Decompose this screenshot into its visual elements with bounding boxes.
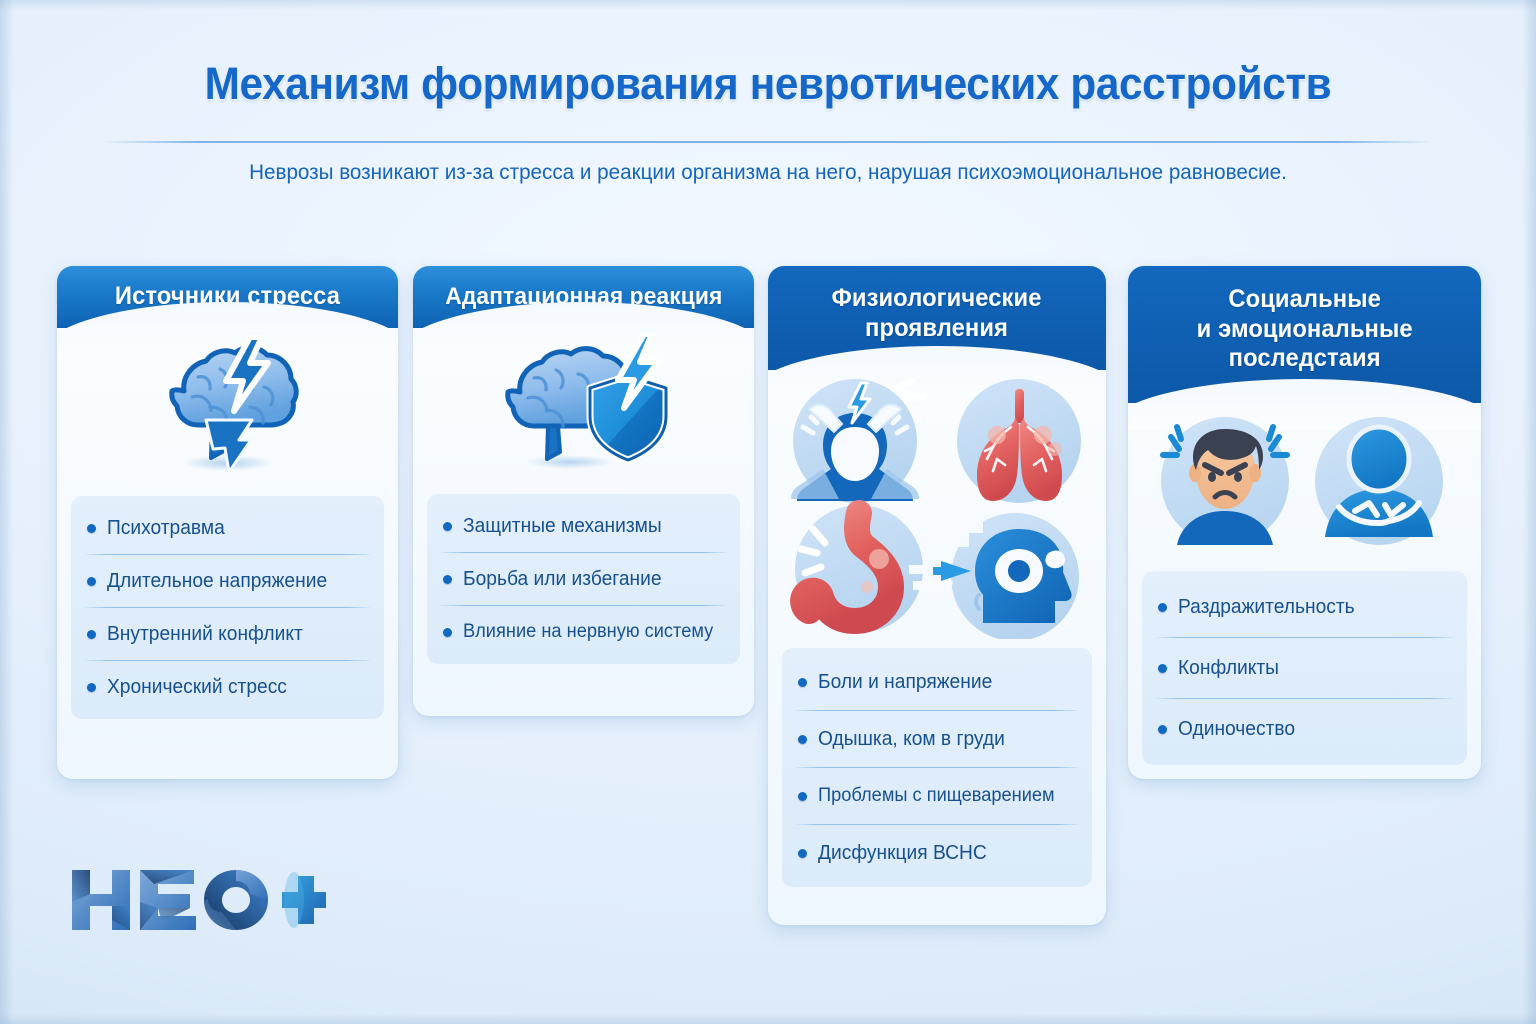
infographic-canvas: Механизм формирования невротических расс…: [0, 0, 1536, 1024]
list-item-label: Одышка, ком в груди: [818, 728, 1005, 751]
list-item-label: Внутренний конфликт: [107, 623, 303, 646]
list-item[interactable]: Одиночество: [1142, 699, 1467, 759]
bullet-icon: [443, 522, 452, 531]
physiology-icon-group: [781, 373, 1093, 639]
icon-area: [768, 372, 1106, 640]
list-item-label: Проблемы с пищеварением: [818, 785, 1055, 807]
bullet-icon: [798, 792, 807, 801]
list-item[interactable]: Одышка, ком в груди: [782, 711, 1092, 767]
list-item[interactable]: Раздражительность: [1142, 577, 1467, 637]
list-panel: Защитные механизмы Борьба или избегание …: [427, 494, 740, 664]
card-body: Боли и напряжение Одышка, ком в груди Пр…: [768, 372, 1106, 887]
bullet-icon: [798, 849, 807, 858]
bullet-icon: [87, 683, 96, 692]
list-item[interactable]: Дисфункция ВСНС: [782, 825, 1092, 881]
list-item-label: Боли и напряжение: [818, 671, 992, 694]
stomach-icon: [795, 505, 923, 633]
head-arrows-icon: [909, 503, 1079, 639]
card-physiological-symptoms[interactable]: Физиологические проявления: [768, 266, 1106, 925]
list-item[interactable]: Влияние на нервную систему: [427, 606, 740, 658]
list-item[interactable]: Боли и напряжение: [782, 654, 1092, 710]
list-item-label: Конфликты: [1178, 657, 1279, 680]
list-panel: Раздражительность Конфликты Одиночество: [1142, 571, 1467, 765]
page-subtitle: Неврозы возникают из-за стресса и реакци…: [31, 160, 1506, 185]
bullet-icon: [87, 524, 96, 533]
logo-mark: [68, 862, 328, 940]
list-item-label: Борьба или избегание: [463, 568, 662, 591]
card-adaptive-response[interactable]: Адаптационная реакция: [413, 266, 754, 716]
bullet-icon: [798, 735, 807, 744]
card-title: Социальные и эмоциональные последстаия: [1197, 285, 1413, 374]
card-header: Социальные и эмоциональные последстаия: [1128, 266, 1481, 403]
bullet-icon: [1158, 725, 1167, 734]
card-header: Физиологические проявления: [768, 266, 1106, 370]
card-title: Физиологические проявления: [832, 284, 1042, 343]
page-title: Механизм формирования невротических расс…: [46, 58, 1490, 110]
bullet-icon: [798, 678, 807, 687]
card-stress-sources[interactable]: Источники стресса: [57, 266, 398, 779]
bullet-icon: [1158, 664, 1167, 673]
card-body: Психотравма Длительное напряжение Внутре…: [57, 332, 398, 719]
list-item[interactable]: Борьба или избегание: [427, 553, 740, 605]
bullet-icon: [443, 628, 452, 637]
list-panel: Психотравма Длительное напряжение Внутре…: [71, 496, 384, 719]
list-item-label: Раздражительность: [1178, 596, 1355, 619]
list-item-label: Защитные механизмы: [463, 515, 662, 538]
headache-person-icon: [791, 379, 923, 503]
title-divider: [108, 141, 1428, 143]
list-panel: Боли и напряжение Одышка, ком в груди Пр…: [782, 648, 1092, 887]
card-body: Защитные механизмы Борьба или избегание …: [413, 330, 754, 664]
icon-area: [413, 330, 754, 480]
list-item-label: Влияние на нервную систему: [463, 621, 713, 643]
bullet-icon: [1158, 603, 1167, 612]
neo-plus-logo[interactable]: [68, 862, 328, 940]
list-item-label: Психотравма: [107, 517, 225, 540]
social-icon-group: [1155, 415, 1455, 547]
card-body: Раздражительность Конфликты Одиночество: [1128, 413, 1481, 765]
list-item-label: Длительное напряжение: [107, 570, 327, 593]
list-item[interactable]: Длительное напряжение: [71, 555, 384, 607]
list-item[interactable]: Проблемы с пищеварением: [782, 768, 1092, 824]
bullet-icon: [87, 630, 96, 639]
list-item[interactable]: Конфликты: [1142, 638, 1467, 698]
brain-shield-lightning-icon: [484, 334, 684, 476]
card-header: Источники стресса: [57, 266, 398, 328]
card-header: Адаптационная реакция: [413, 266, 754, 328]
list-item-label: Одиночество: [1178, 718, 1295, 741]
angry-person-icon: [1161, 417, 1289, 545]
bullet-icon: [443, 575, 452, 584]
lungs-icon: [957, 379, 1081, 503]
bullet-icon: [87, 577, 96, 586]
list-item[interactable]: Внутренний конфликт: [71, 608, 384, 660]
brain-lightning-icon: [138, 335, 318, 477]
icon-area: [1128, 413, 1481, 549]
list-item[interactable]: Защитные механизмы: [427, 500, 740, 552]
list-item[interactable]: Психотравма: [71, 502, 384, 554]
card-social-emotional-consequences[interactable]: Социальные и эмоциональные последстаия: [1128, 266, 1481, 779]
icon-area: [57, 332, 398, 480]
list-item-label: Дисфункция ВСНС: [818, 842, 987, 865]
lonely-person-icon: [1315, 417, 1443, 545]
list-item-label: Хронический стресс: [107, 676, 287, 699]
list-item[interactable]: Хронический стресс: [71, 661, 384, 713]
